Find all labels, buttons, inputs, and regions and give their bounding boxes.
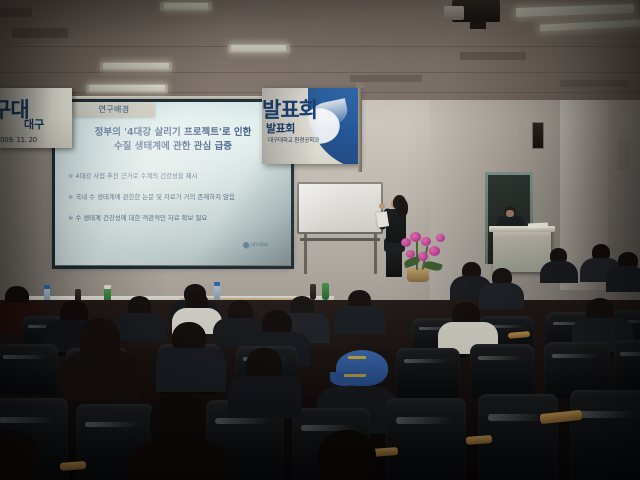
whiteboard-crossbar: [300, 238, 380, 241]
screen-border: [52, 99, 294, 269]
presenter-hand: [379, 203, 385, 209]
wall-speaker-icon: [532, 122, 544, 149]
orchid-bloom: [429, 246, 440, 256]
auditorium-seat[interactable]: [386, 398, 466, 480]
lecture-hall-photo: 연구배경 정부의 '4대강 살리기 프로젝트'로 인한 수질 생태계에 관한 관…: [0, 0, 640, 480]
podium-person-face: [506, 210, 514, 217]
plant-pot: [407, 268, 429, 282]
bottle-cap: [44, 285, 50, 289]
dark-bottle: [310, 284, 316, 300]
bottle-cap: [214, 282, 220, 286]
orchid-bloom: [436, 234, 445, 242]
banner-pole-cap: [356, 83, 364, 88]
auditorium-seat[interactable]: [396, 348, 460, 400]
orchid-bloom: [401, 238, 411, 247]
banner-pole: [358, 86, 362, 172]
banner-left-shadow: [0, 88, 72, 148]
whiteboard-sheen: [299, 184, 381, 232]
presenter-papers: [376, 211, 389, 228]
auditorium-seat[interactable]: [570, 390, 640, 480]
presenter-hair: [397, 199, 408, 217]
auditorium-seat[interactable]: [470, 344, 534, 398]
orchid-bloom: [406, 250, 415, 258]
auditorium-seat[interactable]: [614, 340, 640, 396]
orchid-bloom: [421, 237, 431, 246]
banner-right-shadow: [262, 88, 358, 164]
auditorium-seat[interactable]: [0, 344, 58, 394]
bottle-cap: [104, 285, 111, 289]
podium-papers: [528, 222, 548, 228]
green-bottle: [322, 283, 329, 300]
orchid-bloom: [418, 252, 428, 261]
orchid-bloom: [410, 232, 421, 242]
